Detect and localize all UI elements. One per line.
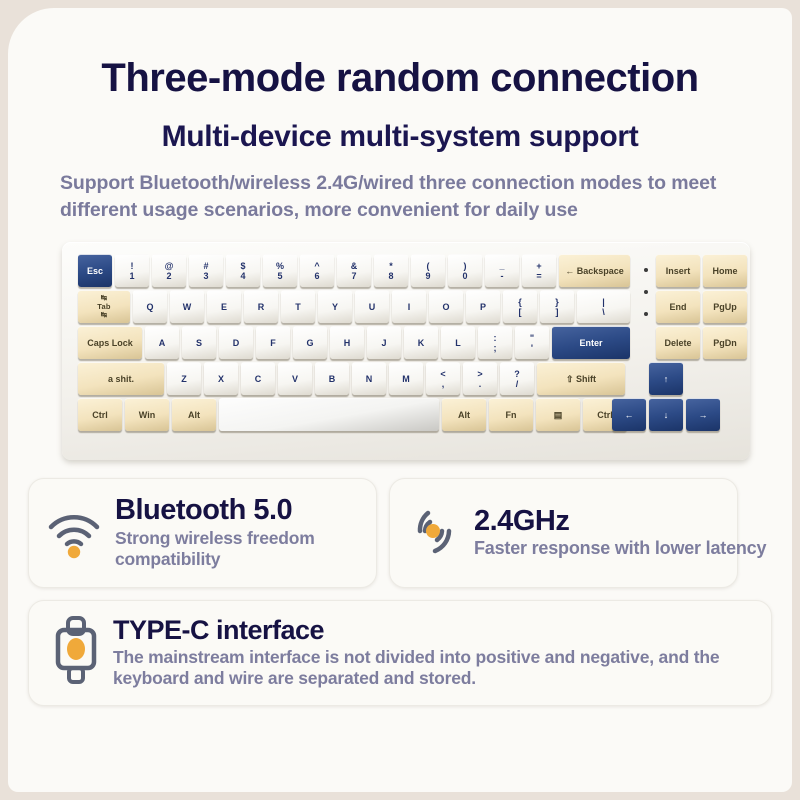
key-legend-top: ( bbox=[427, 261, 430, 271]
keyboard-row: Caps LockASDFGHJKL:;"'Enter bbox=[78, 326, 630, 359]
key-space[interactable]: >. bbox=[463, 362, 497, 395]
key-z[interactable]: Z bbox=[167, 362, 201, 395]
key-space[interactable]: ?/ bbox=[500, 362, 534, 395]
key-label: Esc bbox=[87, 266, 103, 276]
key-legend-top: " bbox=[530, 333, 534, 343]
key-9[interactable]: (9 bbox=[411, 254, 445, 287]
feature-desc: Strong wireless freedom compatibility bbox=[115, 528, 330, 571]
key-label: M bbox=[402, 374, 410, 384]
key-label: F bbox=[270, 338, 276, 348]
key-end[interactable]: End bbox=[656, 290, 700, 323]
key-label: Ctrl bbox=[92, 410, 108, 420]
key-label: Insert bbox=[666, 266, 691, 276]
key-legend-bottom: , bbox=[442, 379, 445, 389]
key-legend-top: ? bbox=[514, 369, 520, 379]
keyboard-keys: Esc!1@2#3$4%5^6&7*8(9)0_-+=← Backspace↹T… bbox=[78, 254, 630, 434]
key-alt[interactable]: Alt bbox=[442, 398, 486, 431]
key-label: J bbox=[381, 338, 386, 348]
key-pgdn[interactable]: PgDn bbox=[703, 326, 747, 359]
key-label: D bbox=[233, 338, 240, 348]
key-label: Alt bbox=[458, 410, 470, 420]
key-label: K bbox=[418, 338, 425, 348]
key-o[interactable]: O bbox=[429, 290, 463, 323]
key-legend-top: + bbox=[536, 261, 541, 271]
key-legend-bottom: = bbox=[536, 271, 541, 281]
key-legend-bottom: 4 bbox=[240, 271, 245, 281]
key-legend-bottom: ] bbox=[556, 307, 559, 317]
keyboard-row: CtrlWinAltAltFn▤Ctrl bbox=[78, 398, 630, 431]
key-label: G bbox=[306, 338, 313, 348]
key-pgup[interactable]: PgUp bbox=[703, 290, 747, 323]
key-s[interactable]: S bbox=[182, 326, 216, 359]
key-7[interactable]: &7 bbox=[337, 254, 371, 287]
key-f[interactable]: F bbox=[256, 326, 290, 359]
key-legend-bottom: 6 bbox=[314, 271, 319, 281]
key-legend-bottom: 2 bbox=[166, 271, 171, 281]
key-label: Q bbox=[146, 302, 153, 312]
key-label: R bbox=[258, 302, 265, 312]
key-space[interactable]: :; bbox=[478, 326, 512, 359]
key-p[interactable]: P bbox=[466, 290, 500, 323]
key-e[interactable]: E bbox=[207, 290, 241, 323]
key-arrow-right[interactable]: → bbox=[686, 398, 720, 431]
key-legend-top: @ bbox=[165, 261, 174, 271]
key-legend-top: & bbox=[351, 261, 358, 271]
key-i[interactable]: I bbox=[392, 290, 426, 323]
usb-type-c-icon bbox=[43, 613, 103, 692]
key-label: Ctrl bbox=[597, 410, 613, 420]
key-a[interactable]: A bbox=[145, 326, 179, 359]
key-y[interactable]: Y bbox=[318, 290, 352, 323]
key-legend-top: ^ bbox=[314, 261, 319, 271]
feature-title: 2.4GHz bbox=[474, 505, 569, 537]
key-label: C bbox=[255, 374, 262, 384]
key-space[interactable]: <, bbox=[426, 362, 460, 395]
feature-card-typec: TYPE-C interface The mainstream interfac… bbox=[28, 600, 772, 706]
key-c[interactable]: C bbox=[241, 362, 275, 395]
key-legend-top: # bbox=[203, 261, 208, 271]
key-l[interactable]: L bbox=[441, 326, 475, 359]
key-legend-bottom: 3 bbox=[203, 271, 208, 281]
indicator-leds bbox=[644, 268, 648, 316]
key-label: Y bbox=[332, 302, 338, 312]
key-label: N bbox=[366, 374, 373, 384]
key-u[interactable]: U bbox=[355, 290, 389, 323]
keyboard-row: a shit.ZXCVBNM<,>.?/⇧ Shift bbox=[78, 362, 630, 395]
key-label: T bbox=[295, 302, 301, 312]
key-8[interactable]: *8 bbox=[374, 254, 408, 287]
nav-column: HomePgUpPgDn bbox=[703, 254, 747, 359]
key-legend-bottom: 0 bbox=[462, 271, 467, 281]
key-label: ← Backspace bbox=[565, 266, 624, 276]
key-x[interactable]: X bbox=[204, 362, 238, 395]
key-label: A bbox=[159, 338, 166, 348]
key-tab[interactable]: ↹Tab↹ bbox=[78, 290, 130, 323]
key-t[interactable]: T bbox=[281, 290, 315, 323]
key-caps-lock[interactable]: Caps Lock bbox=[78, 326, 142, 359]
feature-text: 2.4GHz Faster response with lower latenc… bbox=[474, 506, 723, 560]
key-label: ⇧ Shift bbox=[566, 374, 596, 384]
arrow-cluster: ↑ ← ↓ → bbox=[612, 362, 720, 431]
key-home[interactable]: Home bbox=[703, 254, 747, 287]
key-insert[interactable]: Insert bbox=[656, 254, 700, 287]
key-fn[interactable]: Fn bbox=[489, 398, 533, 431]
key-legend-bottom: 1 bbox=[129, 271, 134, 281]
key-label: Alt bbox=[188, 410, 200, 420]
keyboard-illustration: Esc!1@2#3$4%5^6&7*8(9)0_-+=← Backspace↹T… bbox=[8, 236, 792, 466]
wifi-arcs-icon bbox=[43, 501, 105, 564]
feature-title: TYPE-C interface bbox=[113, 615, 324, 645]
feature-desc: The mainstream interface is not divided … bbox=[113, 647, 753, 690]
key-space[interactable]: {[ bbox=[503, 290, 537, 323]
key-label: Fn bbox=[506, 410, 517, 420]
feature-desc: Faster response with lower latency bbox=[474, 538, 723, 560]
key-legend-bottom: / bbox=[516, 379, 519, 389]
key-space[interactable]: _- bbox=[485, 254, 519, 287]
key-legend-bottom: [ bbox=[519, 307, 522, 317]
feature-cards: Bluetooth 5.0 Strong wireless freedom co… bbox=[28, 478, 772, 706]
key-0[interactable]: )0 bbox=[448, 254, 482, 287]
key-legend-top: _ bbox=[499, 261, 504, 271]
key-label: S bbox=[196, 338, 202, 348]
key-legend-top: { bbox=[518, 297, 522, 307]
key-legend-top: ! bbox=[131, 261, 134, 271]
key-label: L bbox=[455, 338, 461, 348]
key-enter[interactable]: Enter bbox=[552, 326, 630, 359]
key-space[interactable]: "' bbox=[515, 326, 549, 359]
key-d[interactable]: D bbox=[219, 326, 253, 359]
keyboard-case: Esc!1@2#3$4%5^6&7*8(9)0_-+=← Backspace↹T… bbox=[62, 242, 750, 460]
key-m[interactable]: M bbox=[389, 362, 423, 395]
key-v[interactable]: V bbox=[278, 362, 312, 395]
key-space[interactable]: += bbox=[522, 254, 556, 287]
key-label: W bbox=[183, 302, 192, 312]
key-arrow-up[interactable]: ↑ bbox=[649, 362, 683, 395]
key-label: ▤ bbox=[554, 410, 563, 420]
key-space[interactable]: }] bbox=[540, 290, 574, 323]
key-label: Delete bbox=[664, 338, 691, 348]
key-a-shit[interactable]: a shit. bbox=[78, 362, 164, 395]
key-arrow-left[interactable]: ← bbox=[612, 398, 646, 431]
key-h[interactable]: H bbox=[330, 326, 364, 359]
key-backspace[interactable]: ← Backspace bbox=[559, 254, 630, 287]
key-legend-top: } bbox=[555, 297, 559, 307]
feature-text: Bluetooth 5.0 Strong wireless freedom co… bbox=[115, 495, 330, 570]
key-label: End bbox=[670, 302, 687, 312]
key-g[interactable]: G bbox=[293, 326, 327, 359]
page-title: Three-mode random connection bbox=[8, 56, 792, 100]
key-space[interactable]: ▤ bbox=[536, 398, 580, 431]
key-label: I bbox=[408, 302, 411, 312]
key-legend-bottom: ' bbox=[531, 343, 533, 353]
key-label: Z bbox=[181, 374, 187, 384]
led-indicator bbox=[644, 290, 648, 294]
key-ctrl[interactable]: Ctrl bbox=[78, 398, 122, 431]
key-3[interactable]: #3 bbox=[189, 254, 223, 287]
nav-cluster: InsertEndDeleteHomePgUpPgDn bbox=[656, 254, 747, 359]
key-win[interactable]: Win bbox=[125, 398, 169, 431]
key-label: E bbox=[221, 302, 227, 312]
key-w[interactable]: W bbox=[170, 290, 204, 323]
key-label: H bbox=[344, 338, 351, 348]
key-esc[interactable]: Esc bbox=[78, 254, 112, 287]
key-4[interactable]: $4 bbox=[226, 254, 260, 287]
key-b[interactable]: B bbox=[315, 362, 349, 395]
key-label: X bbox=[218, 374, 224, 384]
key-legend-top: % bbox=[276, 261, 284, 271]
feature-card-24ghz: 2.4GHz Faster response with lower latenc… bbox=[389, 478, 738, 588]
key-k[interactable]: K bbox=[404, 326, 438, 359]
key-r[interactable]: R bbox=[244, 290, 278, 323]
feature-title: Bluetooth 5.0 bbox=[115, 494, 292, 526]
key-label: O bbox=[442, 302, 449, 312]
key-n[interactable]: N bbox=[352, 362, 386, 395]
key-label: V bbox=[292, 374, 298, 384]
radio-signal-icon bbox=[404, 501, 464, 564]
key-legend-bottom: . bbox=[479, 379, 482, 389]
key-legend-bottom: 7 bbox=[351, 271, 356, 281]
key-label: PgDn bbox=[713, 338, 737, 348]
key-legend-top: : bbox=[494, 333, 497, 343]
key-label: PgUp bbox=[713, 302, 737, 312]
key-legend-bottom: 5 bbox=[277, 271, 282, 281]
key-legend-top: < bbox=[440, 369, 445, 379]
led-indicator bbox=[644, 312, 648, 316]
key-legend-bottom: 8 bbox=[388, 271, 393, 281]
page-subtitle: Multi-device multi-system support bbox=[8, 120, 792, 154]
key-label: U bbox=[369, 302, 376, 312]
key-legend-top: $ bbox=[240, 261, 245, 271]
key-2[interactable]: @2 bbox=[152, 254, 186, 287]
feature-text: TYPE-C interface The mainstream interfac… bbox=[113, 616, 753, 689]
key-label: Win bbox=[139, 410, 155, 420]
key-arrow-down[interactable]: ↓ bbox=[649, 398, 683, 431]
key-space[interactable]: |\ bbox=[577, 290, 630, 323]
key-label: Enter bbox=[579, 338, 602, 348]
key-legend-bottom: - bbox=[501, 271, 504, 281]
key-q[interactable]: Q bbox=[133, 290, 167, 323]
key-space[interactable] bbox=[219, 398, 439, 431]
key-legend-bottom: 9 bbox=[425, 271, 430, 281]
feature-card-bluetooth: Bluetooth 5.0 Strong wireless freedom co… bbox=[28, 478, 377, 588]
key-legend-top: | bbox=[602, 297, 605, 307]
key-legend-top: * bbox=[389, 261, 393, 271]
led-indicator bbox=[644, 268, 648, 272]
intro-paragraph: Support Bluetooth/wireless 2.4G/wired th… bbox=[60, 170, 744, 224]
keyboard-row: Esc!1@2#3$4%5^6&7*8(9)0_-+=← Backspace bbox=[78, 254, 630, 287]
key-legend-bottom: \ bbox=[602, 307, 605, 317]
nav-column: InsertEndDelete bbox=[656, 254, 700, 359]
key-legend-top: > bbox=[477, 369, 482, 379]
key-delete[interactable]: Delete bbox=[656, 326, 700, 359]
key-label: Home bbox=[712, 266, 737, 276]
key-5[interactable]: %5 bbox=[263, 254, 297, 287]
key-label: P bbox=[480, 302, 486, 312]
key-label: Caps Lock bbox=[87, 338, 133, 348]
key-legend-top: ) bbox=[464, 261, 467, 271]
key-j[interactable]: J bbox=[367, 326, 401, 359]
key-6[interactable]: ^6 bbox=[300, 254, 334, 287]
key-label: B bbox=[329, 374, 336, 384]
key-alt[interactable]: Alt bbox=[172, 398, 216, 431]
keyboard-row: ↹Tab↹QWERTYUIOP{[}]|\ bbox=[78, 290, 630, 323]
key-1[interactable]: !1 bbox=[115, 254, 149, 287]
key-label: a shit. bbox=[108, 374, 134, 384]
product-feature-page: Three-mode random connection Multi-devic… bbox=[8, 8, 792, 792]
key-legend-bottom: ; bbox=[494, 343, 497, 353]
